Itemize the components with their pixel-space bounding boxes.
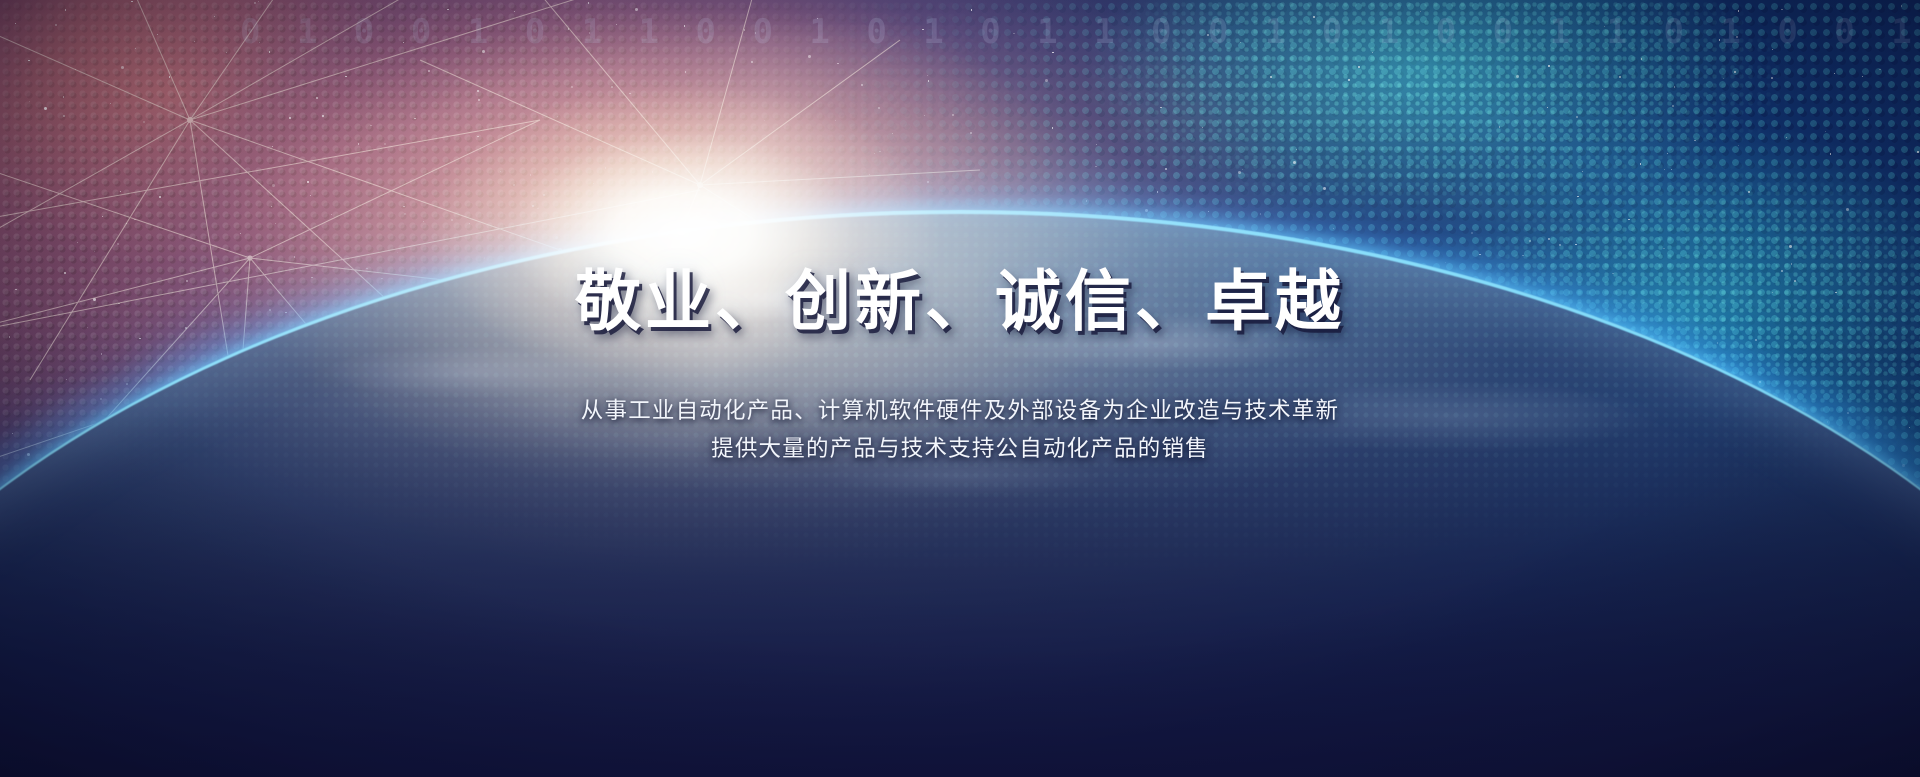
banner-subtitle-line-2: 提供大量的产品与技术支持公自动化产品的销售	[0, 431, 1920, 463]
hero-banner: 0 1 0 0 1 0 1 1 0 0 1 0 1 0 1 1 0 0 1 0 …	[0, 0, 1920, 777]
banner-headline: 敬业、创新、诚信、卓越	[0, 264, 1920, 340]
banner-content: 敬业、创新、诚信、卓越 从事工业自动化产品、计算机软件硬件及外部设备为企业改造与…	[0, 0, 1920, 777]
banner-subtitle-line-1: 从事工业自动化产品、计算机软件硬件及外部设备为企业改造与技术革新	[0, 393, 1920, 425]
